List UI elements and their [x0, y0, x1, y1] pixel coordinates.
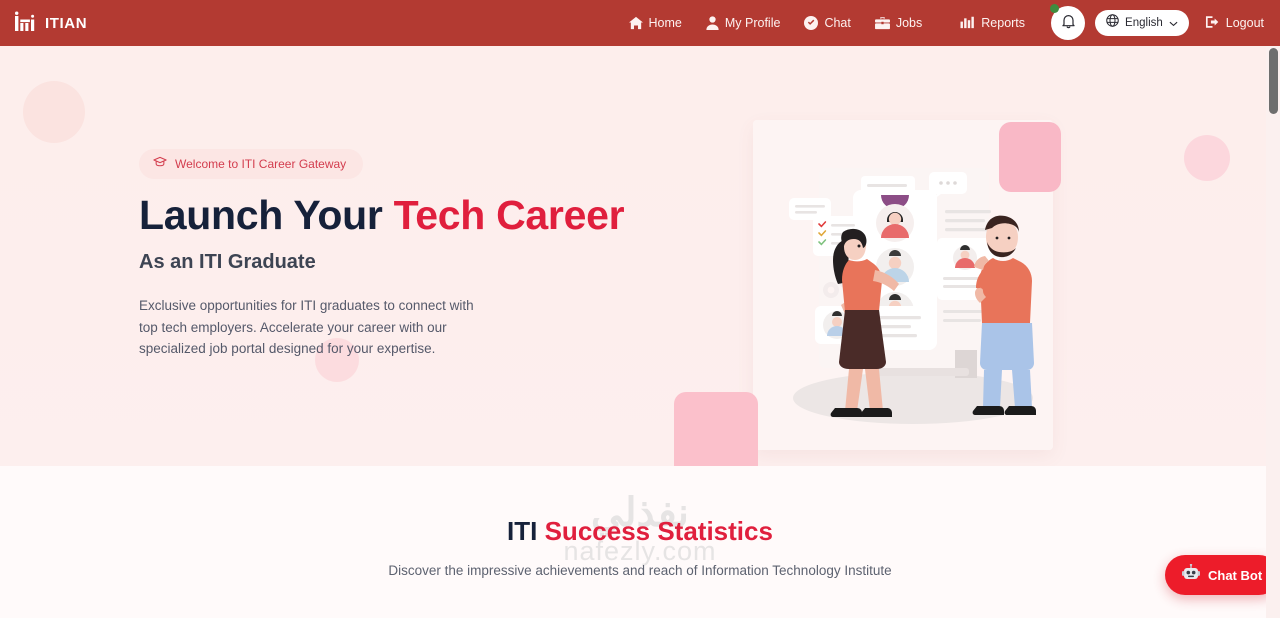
brand-logo[interactable]: ITIAN	[14, 11, 87, 35]
statistics-subtitle: Discover the impressive achievements and…	[0, 563, 1280, 578]
robot-icon	[1182, 564, 1200, 586]
bar-chart-icon	[960, 16, 975, 30]
headline-accent: Tech Career	[394, 192, 625, 238]
hero-section: Welcome to ITI Career Gateway Launch You…	[0, 46, 1280, 466]
logout-label: Logout	[1226, 16, 1264, 30]
nav-label: Home	[649, 16, 682, 30]
page-root: ITIAN Home My Profile	[0, 0, 1280, 618]
chevron-down-icon	[1169, 14, 1178, 32]
chat-bot-button[interactable]: Chat Bot	[1165, 555, 1279, 595]
graduation-cap-icon	[153, 155, 167, 173]
bell-icon	[1061, 13, 1076, 34]
logout-button[interactable]: Logout	[1205, 15, 1264, 32]
nav-item-reports[interactable]: Reports	[948, 10, 1037, 36]
headline-plain: Launch Your	[139, 192, 394, 238]
decorative-square	[674, 392, 758, 466]
statistics-title: ITI Success Statistics	[0, 516, 1280, 547]
nav-links: Home My Profile Chat	[617, 6, 1280, 40]
statistics-title-plain: ITI	[507, 516, 545, 546]
chat-bot-label: Chat Bot	[1208, 568, 1262, 583]
notifications-button[interactable]	[1051, 6, 1085, 40]
hero-badge[interactable]: Welcome to ITI Career Gateway	[139, 149, 363, 179]
nav-item-jobs[interactable]: Jobs	[863, 10, 934, 36]
nav-item-my-profile[interactable]: My Profile	[694, 10, 793, 36]
notification-badge	[1050, 4, 1059, 13]
home-icon	[629, 16, 643, 30]
language-label: English	[1125, 17, 1163, 29]
nav-label: Reports	[981, 16, 1025, 30]
page-title: Launch Your Tech Career	[139, 192, 624, 239]
iti-logo-icon	[14, 11, 36, 35]
statistics-title-accent: Success Statistics	[545, 516, 773, 546]
brand-name: ITIAN	[45, 15, 87, 32]
nav-item-chat[interactable]: Chat	[792, 10, 862, 36]
user-icon	[706, 16, 719, 30]
nav-label: My Profile	[725, 16, 781, 30]
top-navbar: ITIAN Home My Profile	[0, 0, 1280, 46]
logout-icon	[1205, 15, 1220, 32]
scrollbar-thumb[interactable]	[1269, 48, 1278, 114]
nav-label: Chat	[824, 16, 850, 30]
scrollbar-track[interactable]	[1266, 46, 1280, 618]
globe-icon	[1106, 14, 1119, 32]
hero-subheading: As an ITI Graduate	[139, 251, 316, 274]
nav-item-home[interactable]: Home	[617, 10, 694, 36]
statistics-section: نفذلي nafezly.com ITI Success Statistics…	[0, 466, 1280, 618]
decorative-square	[999, 122, 1061, 192]
language-selector[interactable]: English	[1095, 10, 1189, 36]
nav-label: Jobs	[896, 16, 922, 30]
chat-bubble-icon	[804, 16, 818, 30]
hero-badge-label: Welcome to ITI Career Gateway	[175, 157, 346, 171]
briefcase-icon	[875, 16, 890, 30]
hero-description: Exclusive opportunities for ITI graduate…	[139, 295, 489, 360]
